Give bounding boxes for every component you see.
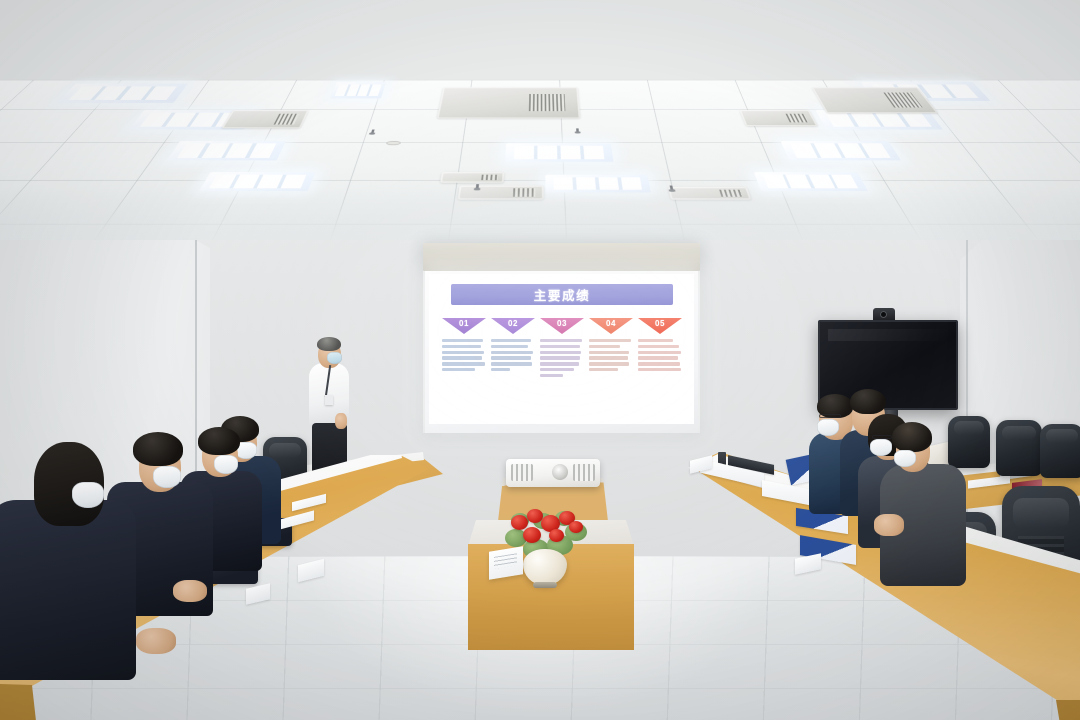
ceiling-air-vent: [812, 87, 938, 113]
name-card: [489, 546, 523, 579]
hair: [133, 432, 183, 466]
face-mask: [153, 466, 181, 488]
face-mask: [327, 352, 342, 364]
hair: [317, 337, 341, 351]
slide-badge-03: 03: [540, 318, 584, 334]
slide-badge-04: 04: [589, 318, 633, 334]
slide-badge-02: 02: [491, 318, 535, 334]
slide-columns: 01 02: [441, 318, 685, 377]
slide-text-block: [490, 339, 536, 371]
slide-badge-number: 02: [491, 319, 535, 328]
ceiling-air-vent: [437, 87, 580, 118]
ceiling-light-panel: [330, 82, 386, 98]
red-rose: [523, 527, 541, 543]
glasses: [819, 414, 841, 418]
slide-badge-number: 04: [589, 319, 633, 328]
ceiling-light-panel: [167, 141, 286, 160]
slide-text-block: [441, 339, 487, 371]
screen-surface: 主要成绩 01: [425, 271, 698, 433]
ceiling: [0, 80, 1080, 240]
badge-card: [325, 395, 333, 405]
face-mask: [870, 439, 892, 456]
vase-base: [533, 582, 557, 588]
hand: [173, 580, 207, 602]
ceiling-air-vent: [739, 110, 817, 126]
face-mask: [72, 482, 104, 508]
slide-title: 主要成绩: [534, 285, 590, 304]
ceiling-light-panel: [505, 143, 613, 161]
slide-badge-05: 05: [638, 318, 682, 334]
slide-title-bar: 主要成绩: [451, 284, 673, 305]
projection-screen: 主要成绩 01: [423, 243, 700, 433]
slide-column-03: 03: [539, 318, 585, 377]
ceiling-air-vent: [440, 172, 504, 183]
sprinkler-head: [574, 128, 580, 134]
hair: [892, 422, 932, 452]
ceiling-light-panel: [56, 84, 188, 103]
slide-column-02: 02: [490, 318, 536, 377]
slide-column-05: 05: [637, 318, 683, 377]
screen-valance: [423, 243, 700, 271]
hair: [198, 427, 240, 455]
slide-text-block: [539, 339, 585, 377]
slide-badge-number: 05: [638, 319, 682, 328]
ceiling-air-vent: [222, 110, 309, 128]
slide-text-block: [588, 339, 634, 371]
torso: [0, 500, 136, 680]
slide-column-01: 01: [441, 318, 487, 377]
ceiling-haze: [0, 187, 1080, 240]
face-mask: [817, 419, 839, 436]
hand: [335, 413, 347, 429]
slide-badge-number: 03: [540, 319, 584, 328]
slide-column-04: 04: [588, 318, 634, 377]
projector-lens: [552, 464, 568, 480]
slide-text-block: [637, 339, 683, 371]
hand: [874, 514, 904, 536]
hair: [850, 389, 886, 414]
meeting-room-photo: 主要成绩 01: [0, 0, 1080, 720]
face-mask: [214, 455, 238, 474]
red-rose: [549, 529, 564, 542]
hand: [136, 628, 176, 654]
presentation-slide: 主要成绩 01: [429, 274, 694, 424]
face-mask: [894, 450, 916, 467]
red-rose: [569, 521, 583, 533]
slide-badge-number: 01: [442, 319, 486, 328]
slide-badge-01: 01: [442, 318, 486, 334]
ceiling-light-panel: [781, 141, 902, 160]
